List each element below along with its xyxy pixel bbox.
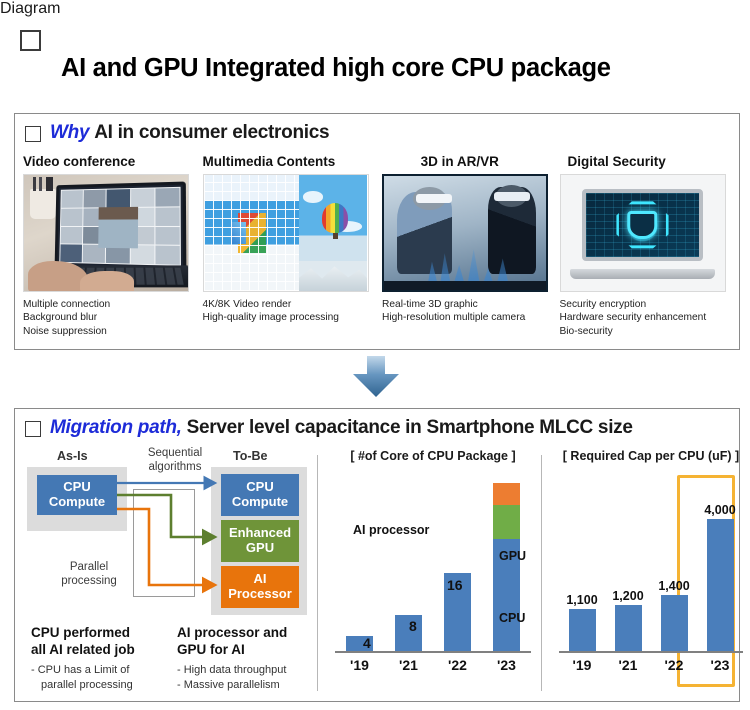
legend-ai-processor: AI processor [353, 523, 429, 537]
chart-bars: 1,100 1,200 1,400 4,000 [559, 475, 743, 651]
migration-panel-body: As-Is To-Be Sequentialalgorithms Paralle… [15, 449, 739, 701]
migration-heading-rest: Server level capacitance in Smartphone M… [187, 417, 633, 438]
x-tick: '23 [482, 657, 531, 673]
legend-gpu: GPU [499, 549, 526, 563]
laptop-base-shape [570, 269, 714, 279]
sharp-half-shape [299, 175, 368, 291]
footer-bullets-left: - CPU has a Limit of parallel processing [31, 663, 133, 693]
caption-line: Background blur [23, 311, 199, 324]
x-tick: '22 [651, 657, 697, 673]
footer-bullet: - High data throughput [177, 663, 286, 678]
bar-slot: 1,100 [559, 475, 605, 651]
table-row [661, 595, 688, 651]
chart-x-axis [335, 651, 531, 653]
why-ai-columns: Video conference Multiple con [15, 154, 739, 338]
why-column-video-conference: Video conference Multiple con [21, 154, 201, 338]
migration-panel-heading: Migration path, Server level capacitance… [25, 417, 633, 439]
migration-panel-heading-text: Migration path, Server level capacitance… [50, 417, 633, 439]
caption-line: Bio-security [560, 325, 738, 338]
hot-air-balloon-shape [322, 203, 348, 233]
caption-line: Multiple connection [23, 298, 199, 311]
caption-line: High-resolution multiple camera [382, 311, 556, 324]
footer-bullet: - CPU has a Limit of [31, 663, 133, 678]
laptop-shape [582, 189, 703, 261]
chart-x-axis [559, 651, 743, 653]
shield-icon [628, 211, 657, 239]
multimedia-pixel-balloon-photo [203, 174, 369, 292]
pixel-grid-overlay-shape [204, 175, 299, 291]
title-bullet-checkbox-icon [20, 30, 41, 51]
active-speaker-tile-shape [98, 207, 138, 249]
why-column-title: Digital Security [560, 154, 738, 169]
video-conference-photo [23, 174, 189, 292]
chart-title: [ #of Core of CPU Package ] [327, 449, 539, 463]
bar-value-label: 4 [363, 635, 371, 651]
pens-shape [33, 177, 53, 191]
footer-heading-left: CPU performedall AI related job [31, 625, 135, 659]
why-ai-panel: Why AI in consumer electronics Video con… [14, 113, 740, 350]
page-title-line1: AI and GPU Integrated high core CPU pack… [61, 54, 611, 84]
chart-x-tick-labels: '19 '21 '22 '23 [559, 657, 743, 673]
laptop-shape [55, 182, 187, 272]
why-ai-panel-heading: Why AI in consumer electronics [25, 122, 329, 144]
bar-value-label: 1,100 [566, 593, 597, 607]
bar-slot [433, 475, 482, 651]
vr-headset-right-icon [494, 192, 530, 201]
pencil-cup-shape [30, 189, 56, 219]
table-row [493, 483, 520, 651]
bar-slot: 1,200 [605, 475, 651, 651]
bar-value-label: 4,000 [704, 503, 735, 517]
why-column-title: Video conference [23, 154, 199, 169]
panel-divider-2 [541, 455, 542, 691]
why-heading-accent: Why [50, 122, 89, 143]
vr-headset-left-icon [416, 194, 452, 203]
caption-line: Security encryption [560, 298, 738, 311]
bar-slot [335, 475, 384, 651]
bar-value-label: 1,400 [658, 579, 689, 593]
x-tick: '19 [559, 657, 605, 673]
why-column-captions: Real-time 3D graphic High-resolution mul… [382, 298, 556, 325]
panel-divider-1 [317, 455, 318, 691]
laptop-security-shield-photo [560, 174, 726, 292]
table-row [707, 519, 734, 651]
table-row [569, 609, 596, 651]
connector-arrows [21, 449, 311, 629]
why-column-3d-in-ar-vr: 3D in AR/VR Real-time 3D graphic High-re… [380, 154, 558, 338]
why-panel-heading-text: Why AI in consumer electronics [50, 122, 329, 144]
why-heading-rest: AI in consumer electronics [94, 122, 329, 143]
footer-bullet: - Massive parallelism [177, 678, 286, 693]
why-column-digital-security: Digital Security Security encryption Har… [558, 154, 740, 338]
why-column-title: 3D in AR/VR [382, 154, 556, 169]
why-panel-bullet-checkbox-icon [25, 126, 41, 142]
pixelated-half-shape [204, 175, 299, 291]
bar-slot: 4,000 [697, 475, 743, 651]
why-column-captions: Security encryption Hardware security en… [560, 298, 738, 338]
why-column-captions: 4K/8K Video render High-quality image pr… [203, 298, 379, 325]
legend-cpu: CPU [499, 611, 525, 625]
as-is-to-be-diagram: As-Is To-Be Sequentialalgorithms Paralle… [21, 449, 311, 701]
table-row [615, 605, 642, 651]
bar-slot: 1,400 [651, 475, 697, 651]
x-tick: '22 [433, 657, 482, 673]
chart-plot-area: 1,100 1,200 1,400 4,000 [551, 475, 750, 653]
migration-path-panel: Migration path, Server level capacitance… [14, 408, 740, 702]
ar-vr-headset-photo [382, 174, 548, 292]
migration-heading-accent: Migration path, [50, 417, 182, 438]
chart-bars [335, 475, 531, 651]
cloud-shape [303, 191, 324, 203]
chart-title: [ Required Cap per CPU (uF) ] [551, 449, 750, 463]
why-column-captions: Multiple connection Background blur Nois… [23, 298, 199, 338]
bar-value-label: 8 [409, 618, 417, 634]
why-column-multimedia-contents: Multimedia Contents 4K/8K Video render H… [201, 154, 381, 338]
x-tick: '23 [697, 657, 743, 673]
caption-line: Noise suppression [23, 325, 199, 338]
caption-line: 4K/8K Video render [203, 298, 379, 311]
footer-bullets-right: - High data throughput - Massive paralle… [177, 663, 286, 693]
x-tick: '21 [605, 657, 651, 673]
bar-slot [482, 475, 531, 651]
caption-line: Hardware security enhancement [560, 311, 738, 324]
chart-core-count: [ #of Core of CPU Package ] [327, 449, 539, 701]
x-tick: '21 [384, 657, 433, 673]
bar-value-label: 1,200 [612, 589, 643, 603]
caption-line: High-quality image processing [203, 311, 379, 324]
right-hand-shape [80, 271, 134, 292]
caption-line: Real-time 3D graphic [382, 298, 556, 311]
chart-required-cap: [ Required Cap per CPU (uF) ] 1,100 1,20… [551, 449, 750, 701]
footer-bullet: parallel processing [31, 678, 133, 693]
table-surface-shape [384, 281, 546, 290]
footer-heading-right: AI processor andGPU for AI [177, 625, 287, 659]
snow-mountain-shape [299, 259, 368, 291]
x-tick: '19 [335, 657, 384, 673]
down-arrow-icon [352, 356, 400, 398]
why-column-title: Multimedia Contents [203, 154, 379, 169]
chart-plot-area: 4 8 16 AI processor GPU CPU [327, 475, 539, 653]
chart-x-tick-labels: '19 '21 '22 '23 [335, 657, 531, 673]
bar-value-label: 16 [447, 577, 463, 593]
migration-panel-bullet-checkbox-icon [25, 421, 41, 437]
